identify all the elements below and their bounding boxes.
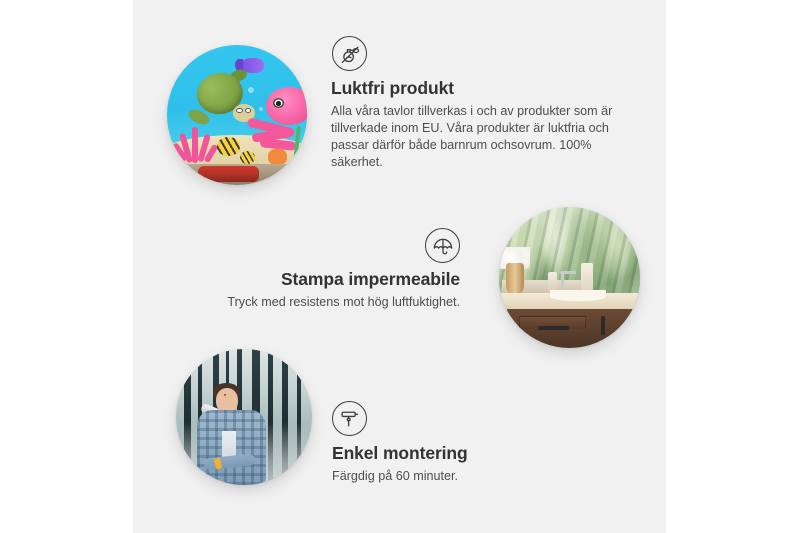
ocean-scene [167, 45, 307, 185]
bathroom-scene [499, 207, 640, 348]
icon-row [218, 228, 460, 263]
ocean-mural-image [167, 45, 307, 185]
pink-coral [175, 126, 217, 162]
sink-basin [550, 290, 606, 301]
face [216, 388, 238, 413]
bathroom-mural-image [499, 207, 640, 348]
yellow-fish [217, 137, 239, 155]
smile [224, 393, 226, 396]
drawer-handle [538, 326, 569, 330]
feature-easy-mounting: Enkel montering Färgdig på 60 minuter. [332, 401, 602, 485]
vase [506, 263, 524, 294]
octopus-head [266, 87, 307, 125]
room-floor-strip [167, 164, 307, 185]
feature-body: Tryck med resistens mot hög luftfuktighe… [218, 294, 460, 311]
painter-forest-mural-image [176, 349, 312, 485]
feature-body: Alla våra tavlor tillverkas i och av pro… [331, 103, 613, 171]
cabinet-handle [601, 316, 605, 334]
no-odour-spray-bottle-icon [332, 36, 367, 71]
octopus-eye [273, 98, 284, 108]
feature-body: Färgdig på 60 minuter. [332, 468, 602, 485]
feature-waterproof-print: Stampa impermeabile Tryck med resistens … [218, 228, 460, 311]
wooden-vanity [507, 309, 640, 348]
feature-title: Enkel montering [332, 443, 602, 464]
faucet [561, 273, 564, 291]
painter-scene [176, 349, 312, 485]
woman-painter [192, 382, 276, 485]
starfish [268, 149, 288, 166]
plaid-shirt [197, 410, 266, 485]
yellow-fish [240, 151, 255, 164]
feature-title: Luktfri produkt [331, 78, 613, 99]
umbrella-icon [425, 228, 460, 263]
feature-title: Stampa impermeabile [218, 269, 460, 290]
folded-arms [204, 454, 256, 471]
paint-roller-icon [332, 401, 367, 436]
soap-bottle-small [548, 272, 556, 292]
product-feature-banner: Luktfri produkt Alla våra tavlor tillver… [0, 0, 800, 533]
sea-turtle [192, 73, 256, 126]
feature-odour-free: Luktfri produkt Alla våra tavlor tillver… [331, 36, 613, 171]
